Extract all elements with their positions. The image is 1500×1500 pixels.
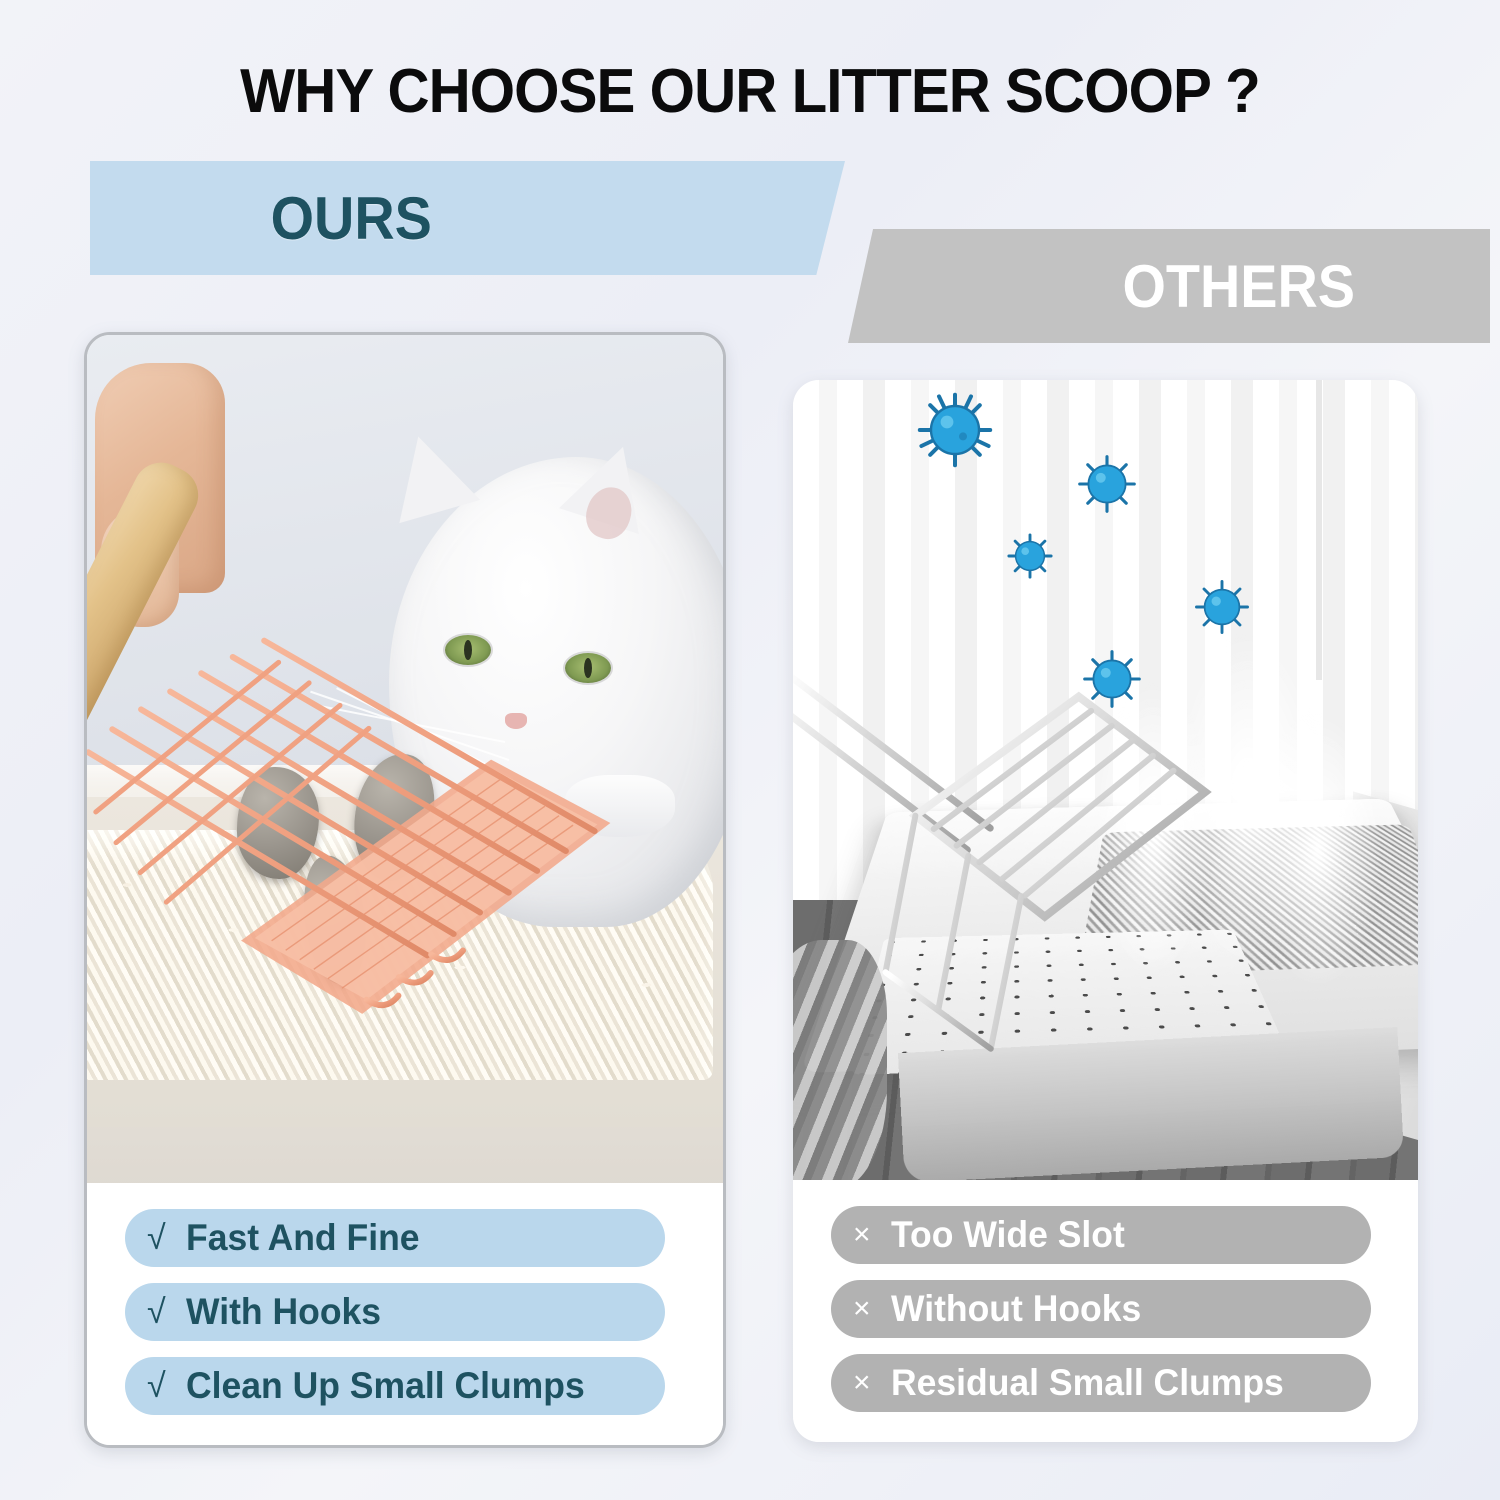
check-icon: √ (147, 1295, 166, 1329)
feature-pill-others-3[interactable]: × Residual Small Clumps (831, 1354, 1371, 1412)
feature-pill-ours-1[interactable]: √ Fast And Fine (125, 1209, 665, 1267)
feature-label: Fast And Fine (186, 1217, 420, 1259)
germ-icon (1076, 453, 1138, 515)
banner-others-label: OTHERS (870, 252, 1467, 321)
cross-icon: × (853, 1368, 871, 1398)
feature-pill-ours-3[interactable]: √ Clean Up Small Clumps (125, 1357, 665, 1415)
banner-ours-label: OURS (116, 184, 818, 253)
stainless-wire-scoop (793, 558, 1274, 1106)
feature-label: Too Wide Slot (891, 1214, 1125, 1256)
germ-icon (1193, 578, 1251, 636)
curtain-fold (1316, 380, 1322, 680)
germ-icon (915, 390, 995, 470)
photo-ours (87, 335, 723, 1187)
card-others: × Too Wide Slot × Without Hooks × Residu… (793, 380, 1418, 1442)
cross-icon: × (853, 1220, 871, 1250)
banner-ours: OURS (90, 161, 845, 275)
feature-list-ours: √ Fast And Fine √ With Hooks √ Clean Up … (87, 1183, 723, 1445)
steam-wisp (1253, 710, 1383, 990)
check-icon: √ (147, 1221, 166, 1255)
feature-list-others: × Too Wide Slot × Without Hooks × Residu… (793, 1180, 1418, 1442)
feature-label: Residual Small Clumps (891, 1362, 1284, 1404)
germ-icon (1081, 648, 1143, 710)
page-title: WHY CHOOSE OUR LITTER SCOOP ? (45, 56, 1455, 127)
feature-label: Without Hooks (891, 1288, 1141, 1330)
check-icon: √ (147, 1369, 166, 1403)
germ-icon (1006, 532, 1054, 580)
feature-pill-others-2[interactable]: × Without Hooks (831, 1280, 1371, 1338)
feature-label: With Hooks (186, 1291, 381, 1333)
cross-icon: × (853, 1294, 871, 1324)
card-ours: √ Fast And Fine √ With Hooks √ Clean Up … (84, 332, 726, 1448)
photo-others (793, 380, 1418, 1185)
feature-pill-others-1[interactable]: × Too Wide Slot (831, 1206, 1371, 1264)
feature-pill-ours-2[interactable]: √ With Hooks (125, 1283, 665, 1341)
banner-others: OTHERS (848, 229, 1490, 343)
feature-label: Clean Up Small Clumps (186, 1365, 585, 1407)
